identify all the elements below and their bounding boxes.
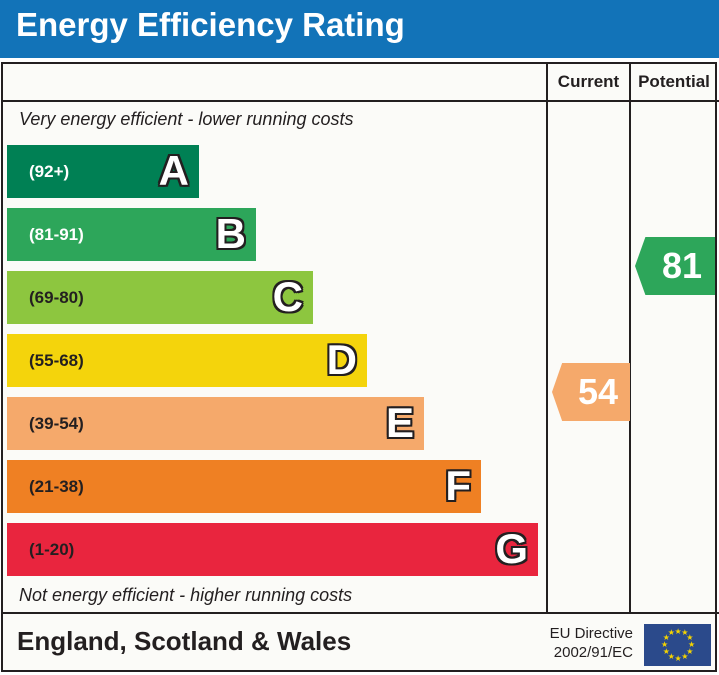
band-range-g: (1-20)	[29, 540, 74, 560]
eu-directive-line2: 2002/91/EC	[523, 644, 633, 663]
band-letter-b: B	[216, 213, 246, 255]
energy-efficiency-rating-chart: Energy Efficiency Rating Current Potenti…	[0, 0, 719, 675]
band-letter-f: F	[445, 465, 471, 507]
band-range-e: (39-54)	[29, 414, 84, 434]
eu-star-icon: ★	[675, 629, 681, 635]
band-letter-g: G	[495, 528, 528, 570]
eu-flag-icon: ★★★★★★★★★★★★	[644, 624, 711, 666]
band-bars: (92+) A (81-91) B (69-80) C (55-68) D (3…	[3, 64, 546, 612]
eu-star-icon: ★	[663, 649, 669, 655]
band-bar-a: (92+) A	[7, 145, 199, 198]
band-bar-g: (1-20) G	[7, 523, 538, 576]
band-bar-d: (55-68) D	[7, 334, 367, 387]
band-range-a: (92+)	[29, 162, 69, 182]
band-letter-c: C	[273, 276, 303, 318]
band-range-b: (81-91)	[29, 225, 84, 245]
band-letter-d: D	[327, 339, 357, 381]
column-header-potential: Potential	[631, 72, 717, 92]
band-range-c: (69-80)	[29, 288, 84, 308]
current-rating-marker: 54	[552, 363, 630, 421]
band-bar-c: (69-80) C	[7, 271, 313, 324]
potential-column-divider	[629, 64, 631, 614]
column-header-current: Current	[548, 72, 629, 92]
eu-star-icon: ★	[668, 630, 674, 636]
current-rating-value: 54	[564, 374, 618, 410]
potential-rating-marker: 81	[635, 237, 715, 295]
page-title: Energy Efficiency Rating	[16, 6, 405, 44]
eu-star-icon: ★	[681, 654, 687, 660]
title-banner: Energy Efficiency Rating	[0, 0, 719, 58]
band-range-f: (21-38)	[29, 477, 84, 497]
rating-table: Current Potential Very energy efficient …	[1, 62, 717, 672]
region-label: England, Scotland & Wales	[17, 626, 351, 657]
eu-star-icon: ★	[661, 642, 667, 648]
current-column-divider	[546, 64, 548, 614]
band-range-d: (55-68)	[29, 351, 84, 371]
band-bar-f: (21-38) F	[7, 460, 481, 513]
eu-directive-label: EU Directive 2002/91/EC	[523, 625, 633, 663]
band-bar-e: (39-54) E	[7, 397, 424, 450]
eu-directive-line1: EU Directive	[523, 625, 633, 644]
band-letter-e: E	[386, 402, 414, 444]
band-letter-a: A	[159, 150, 189, 192]
footer-row: England, Scotland & Wales EU Directive 2…	[3, 614, 719, 672]
band-bar-b: (81-91) B	[7, 208, 256, 261]
potential-rating-value: 81	[648, 248, 702, 284]
eu-star-icon: ★	[675, 656, 681, 662]
